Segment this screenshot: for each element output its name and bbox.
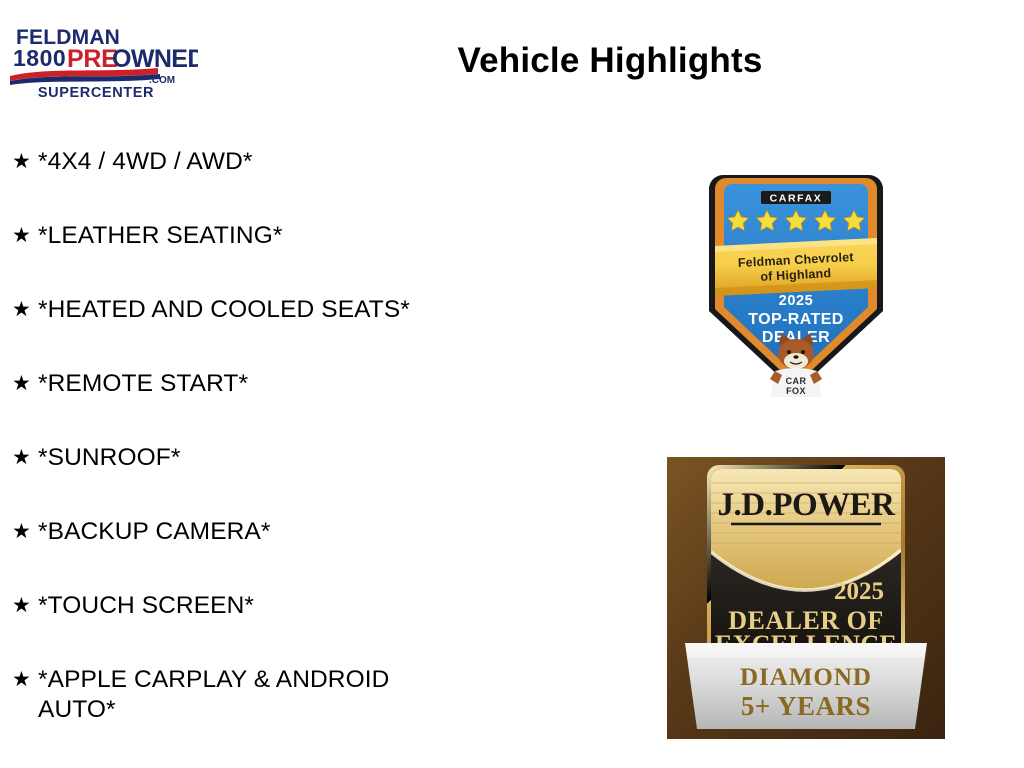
jdpower-tier-text: DIAMOND xyxy=(740,664,872,691)
list-item-label: *TOUCH SCREEN* xyxy=(38,591,254,621)
star-bullet-icon: ★ xyxy=(12,443,38,472)
list-item-label: *4X4 / 4WD / AWD* xyxy=(38,147,253,177)
jdpower-brand-text: J.D.POWER xyxy=(718,487,897,523)
carfax-brand-text: CARFAX xyxy=(770,193,823,205)
list-item-label: *HEATED AND COOLED SEATS* xyxy=(38,295,410,325)
jdpower-award-graphic: J.D.POWER 2025 DEALER OF EXCELLENCE DIAM… xyxy=(667,457,945,739)
list-item-label: *REMOTE START* xyxy=(38,369,248,399)
page-title: Vehicle Highlights xyxy=(300,41,920,81)
dealer-logo-graphic: FELDMAN 1800 PRE OWNED .COM SUPERCENTER xyxy=(8,24,198,100)
list-item-label: *SUNROOF* xyxy=(38,443,180,473)
list-item: ★ *LEATHER SEATING* xyxy=(12,221,542,295)
jdpower-duration-text: 5+ YEARS xyxy=(741,691,871,721)
fox-shirt-line1: CAR xyxy=(786,376,807,386)
list-item-label: *LEATHER SEATING* xyxy=(38,221,283,251)
fox-eye-right xyxy=(801,350,805,354)
list-item: ★ *BACKUP CAMERA* xyxy=(12,517,542,591)
carfax-badge-graphic: CARFAX Feldman Chevrolet of Highland 202… xyxy=(703,165,889,402)
carfax-year-text: 2025 xyxy=(779,293,814,309)
list-item: ★ *4X4 / 4WD / AWD* xyxy=(12,147,542,221)
fox-shirt-line2: FOX xyxy=(786,386,806,396)
list-item: ★ *HEATED AND COOLED SEATS* xyxy=(12,295,542,369)
jd-power-dealer-of-excellence-award: J.D.POWER 2025 DEALER OF EXCELLENCE DIAM… xyxy=(667,457,945,739)
dealer-logo: FELDMAN 1800 PRE OWNED .COM SUPERCENTER xyxy=(8,24,198,100)
list-item-label: *BACKUP CAMERA* xyxy=(38,517,271,547)
logo-pre-text: PRE xyxy=(67,45,118,73)
star-bullet-icon: ★ xyxy=(12,147,38,176)
fox-eye-left xyxy=(787,350,791,354)
award-base-highlight xyxy=(685,643,927,657)
star-bullet-icon: ★ xyxy=(12,295,38,324)
logo-1800-text: 1800 xyxy=(13,45,66,71)
jdpower-year-text: 2025 xyxy=(834,578,884,605)
logo-supercenter-text: SUPERCENTER xyxy=(38,85,154,100)
list-item-label: *APPLE CARPLAY & ANDROID AUTO* xyxy=(38,665,468,725)
star-bullet-icon: ★ xyxy=(12,665,38,694)
fox-nose xyxy=(793,355,798,359)
list-item: ★ *TOUCH SCREEN* xyxy=(12,591,542,665)
list-item: ★ *APPLE CARPLAY & ANDROID AUTO* xyxy=(12,665,542,739)
carfax-award-line1: TOP-RATED xyxy=(748,311,843,328)
list-item: ★ *SUNROOF* xyxy=(12,443,542,517)
star-bullet-icon: ★ xyxy=(12,369,38,398)
star-bullet-icon: ★ xyxy=(12,221,38,250)
star-bullet-icon: ★ xyxy=(12,517,38,546)
carfax-top-rated-dealer-badge: CARFAX Feldman Chevrolet of Highland 202… xyxy=(703,165,889,402)
list-item: ★ *REMOTE START* xyxy=(12,369,542,443)
vehicle-highlights-list: ★ *4X4 / 4WD / AWD* ★ *LEATHER SEATING* … xyxy=(12,147,542,739)
star-bullet-icon: ★ xyxy=(12,591,38,620)
